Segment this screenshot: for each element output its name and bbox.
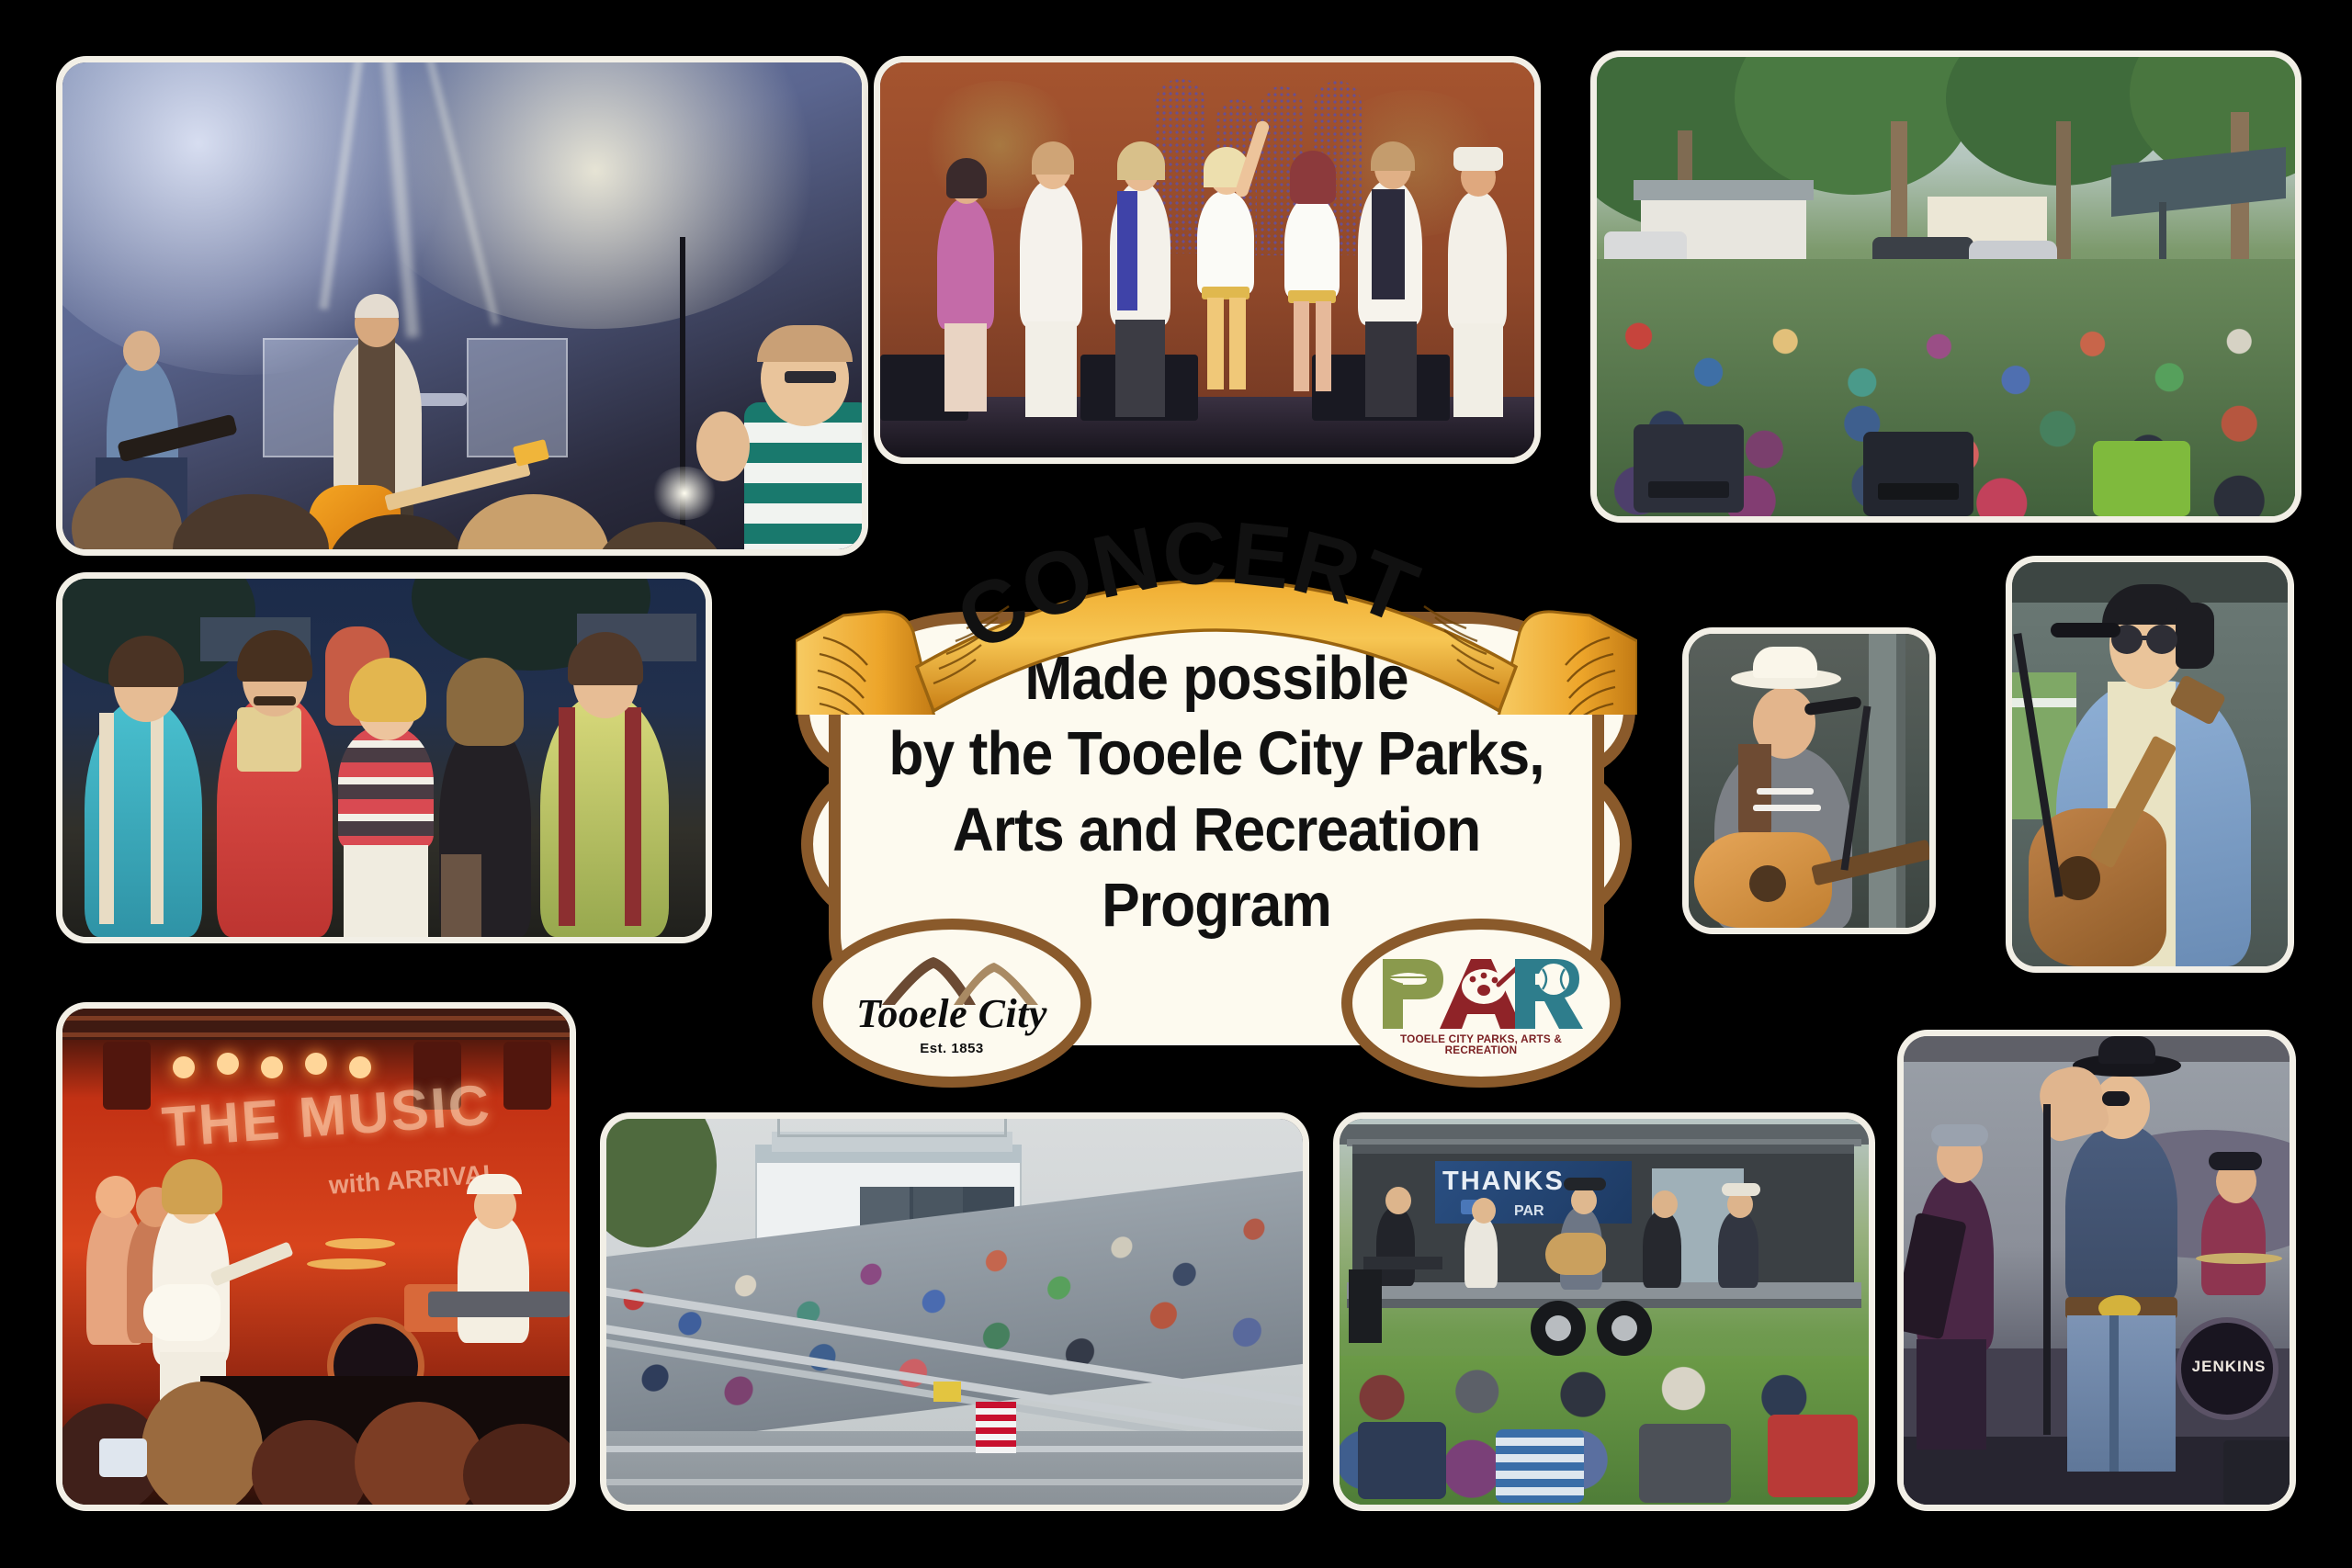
tooele-city-wordmark: Tooele City bbox=[856, 990, 1047, 1037]
photo-stadium-bleachers-buffaloes: HOME OF THE BUFFALOES bbox=[606, 1119, 1303, 1505]
par-letters bbox=[1375, 953, 1587, 1031]
photo-female-country-singer bbox=[1689, 634, 1929, 928]
par-subtitle: TOOELE CITY PARKS, ARTS & RECREATION bbox=[1374, 1034, 1589, 1056]
logo-par: TOOELE CITY PARKS, ARTS & RECREATION bbox=[1341, 919, 1621, 1088]
photo-the-music-with-arrival: THE MUSIC with ARRIVAL bbox=[62, 1009, 570, 1505]
tooele-city-established: Est. 1853 bbox=[920, 1041, 984, 1056]
photo-beatles-tribute-band bbox=[62, 579, 706, 937]
photo-park-crowd-lawn-chairs bbox=[1597, 57, 2295, 516]
logo-tooele-city: Tooele City Est. 1853 bbox=[812, 919, 1091, 1088]
photo-abba-tribute-band bbox=[880, 62, 1534, 457]
concerts-ribbon: CONCERTS bbox=[796, 503, 1637, 715]
concerts-emblem: Made possible by the Tooele City Parks, … bbox=[796, 503, 1637, 1095]
photo-cody-jenkins-country-band: JENKINS bbox=[1904, 1036, 2290, 1505]
photo-mobile-stage-thanks-banner: THANKS PAR bbox=[1340, 1119, 1869, 1505]
emblem-line-3: Arts and Recreation bbox=[876, 793, 1556, 868]
poster-canvas: THE MUSIC with ARRIVAL bbox=[0, 0, 2352, 1568]
photo-male-singer-denim bbox=[2012, 562, 2288, 966]
photo-rock-band-stage bbox=[62, 62, 862, 549]
emblem-line-2: by the Tooele City Parks, bbox=[876, 716, 1556, 792]
